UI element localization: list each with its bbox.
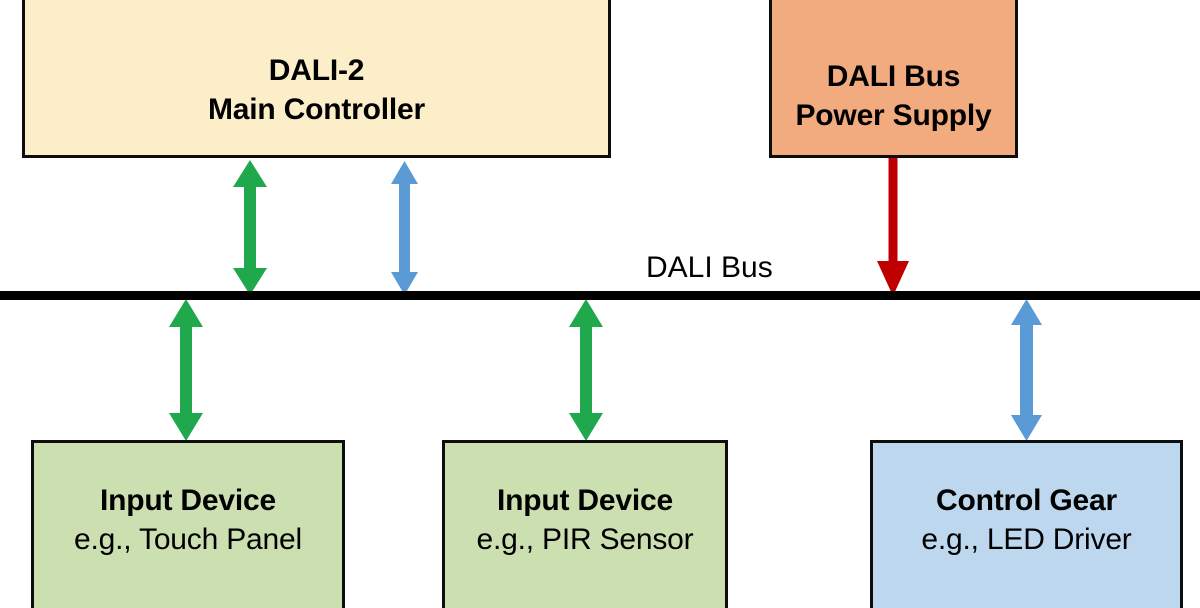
node-input-pir-sensor-subtitle: e.g., PIR Sensor [477,520,694,559]
node-control-gear-title: Control Gear [936,481,1117,520]
node-input-pir-sensor[interactable]: Input Device e.g., PIR Sensor [442,440,728,608]
node-control-gear[interactable]: Control Gear e.g., LED Driver [870,440,1183,608]
connector-power-supply-feed [876,156,910,296]
node-power-supply[interactable]: DALI Bus Power Supply [769,0,1018,158]
node-control-gear-subtitle: e.g., LED Driver [921,520,1131,559]
node-input-touch-panel[interactable]: Input Device e.g., Touch Panel [31,440,345,608]
dali-bus-line [0,291,1200,300]
connector-controller-blue-up [390,161,419,295]
node-main-controller-subtitle: Main Controller [208,90,425,129]
node-input-touch-panel-subtitle: e.g., Touch Panel [74,520,302,559]
node-power-supply-title: DALI Bus [827,57,960,96]
node-main-controller-title: DALI-2 [269,51,364,90]
node-input-touch-panel-title: Input Device [100,481,276,520]
dali-system-diagram: DALI-2 Main Controller DALI Bus Power Su… [0,0,1200,608]
connector-control-gear-link [1010,299,1043,441]
connector-pir-sensor-link [568,299,604,441]
dali-bus-label: DALI Bus [646,251,773,285]
node-power-supply-subtitle: Power Supply [796,96,992,135]
node-main-controller[interactable]: DALI-2 Main Controller [22,0,611,158]
connector-touch-panel-link [168,299,204,441]
node-input-pir-sensor-title: Input Device [497,481,673,520]
connector-controller-green-up [232,160,268,295]
